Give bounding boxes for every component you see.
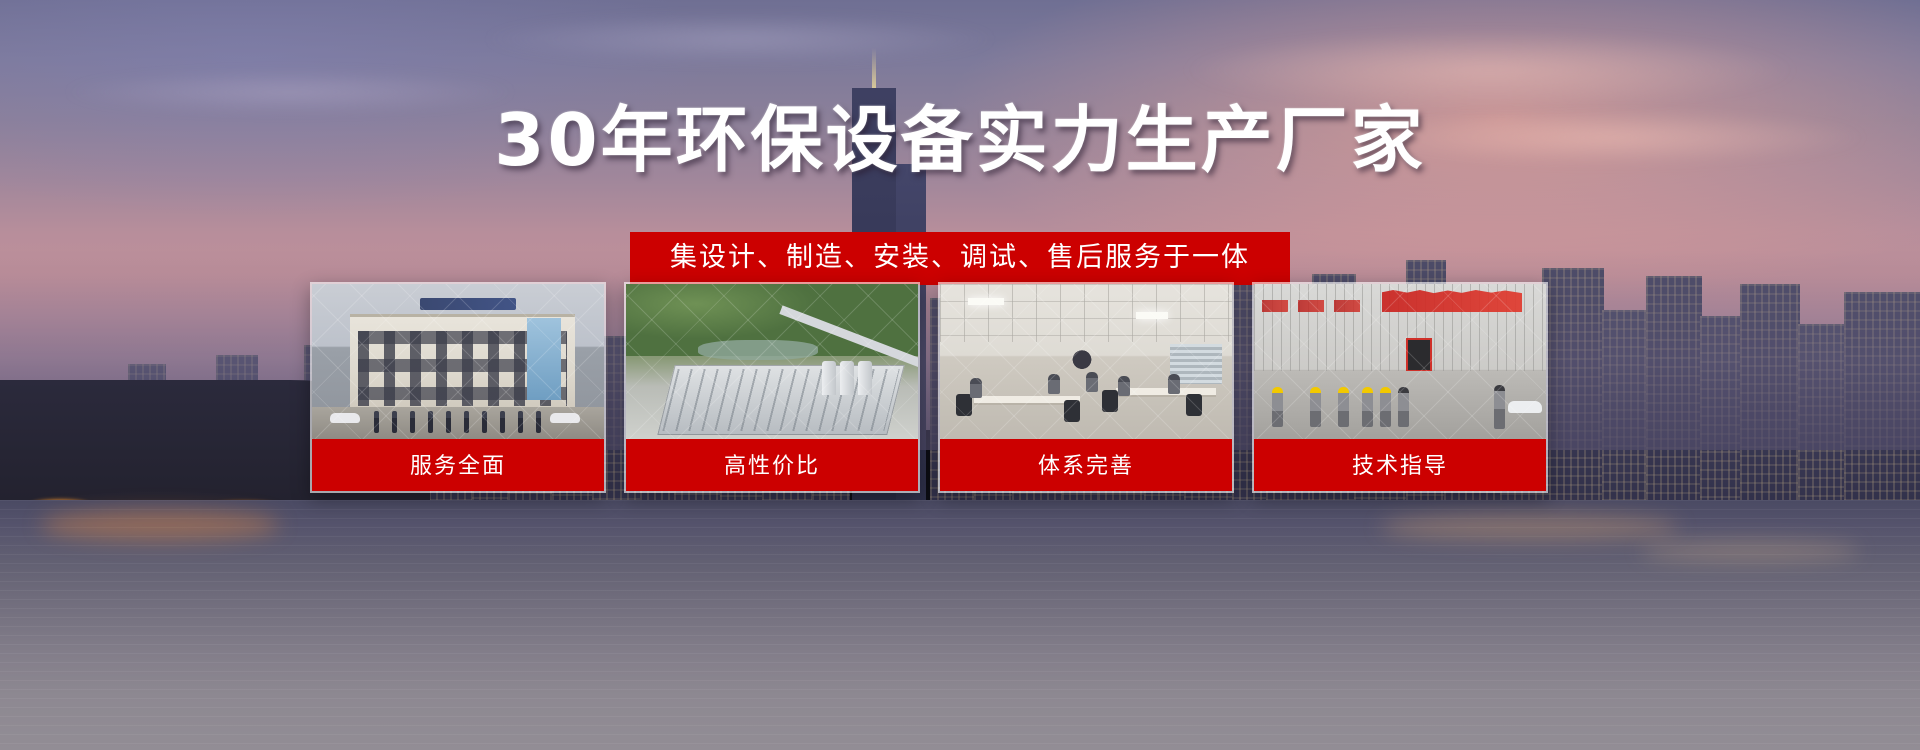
feature-card-label: 技术指导 — [1254, 439, 1546, 491]
background-river — [0, 500, 1920, 750]
feature-card-label: 高性价比 — [626, 439, 918, 491]
page-title: 30年环保设备实力生产厂家 — [0, 98, 1920, 183]
feature-card[interactable]: 服务全面 — [310, 282, 606, 493]
feature-card-label: 体系完善 — [940, 439, 1232, 491]
office-interior-staff-photo — [940, 284, 1232, 439]
feature-card[interactable]: 技术指导 — [1252, 282, 1548, 493]
hero-banner: 30年环保设备实力生产厂家 集设计、制造、安装、调试、售后服务于一体 — [0, 0, 1920, 750]
subtitle-banner: 集设计、制造、安装、调试、售后服务于一体 — [630, 232, 1290, 285]
company-office-building-photo — [312, 284, 604, 439]
feature-card[interactable]: 高性价比 — [624, 282, 920, 493]
subtitle-banner-wrap: 集设计、制造、安装、调试、售后服务于一体 — [0, 232, 1920, 285]
factory-workers-training-photo — [1254, 284, 1546, 439]
feature-card-list: 服务全面 高性价比 — [310, 282, 1560, 493]
aerial-production-plant-photo — [626, 284, 918, 439]
feature-card-label: 服务全面 — [312, 439, 604, 491]
feature-card[interactable]: 体系完善 — [938, 282, 1234, 493]
